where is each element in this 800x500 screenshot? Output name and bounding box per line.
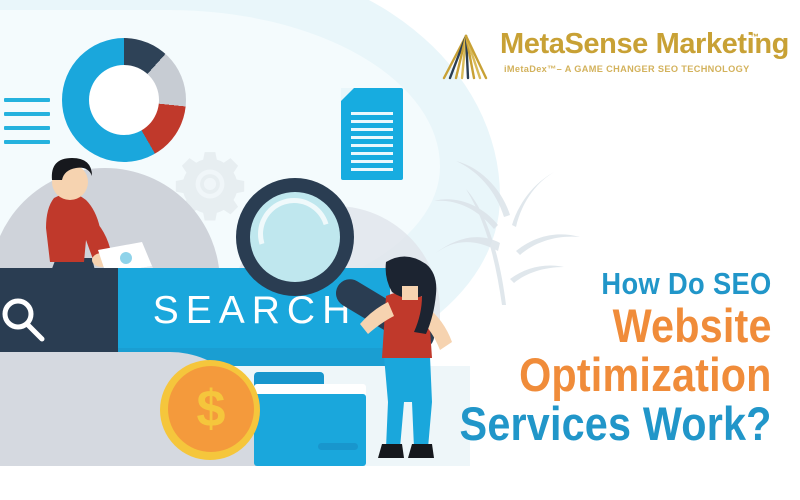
brand-trademark: ™ <box>750 32 759 42</box>
donut-chart <box>62 38 186 162</box>
brand-tagline: iMetaDex™– A GAME CHANGER SEO TECHNOLOGY <box>504 64 750 74</box>
brand-logo[interactable]: MetaSense Marketing ™ iMetaDex™– A GAME … <box>438 28 768 86</box>
line-3 <box>4 126 50 130</box>
headline: How Do SEO Website Optimization Services… <box>417 266 772 449</box>
banner-canvas: SEARCH $ <box>0 0 800 500</box>
bottom-band <box>0 466 800 500</box>
folder-slot <box>318 443 358 450</box>
headline-line-2: Website <box>460 302 772 350</box>
folder-icon <box>254 394 366 466</box>
brand-name: MetaSense Marketing <box>500 28 789 61</box>
headline-line-1: How Do SEO <box>460 266 772 302</box>
line-1 <box>4 98 50 102</box>
coin-symbol: $ <box>168 366 254 452</box>
headline-line-4: Services Work? <box>460 399 772 449</box>
text-lines-decoration <box>4 98 50 154</box>
headline-line-3: Optimization <box>460 350 772 399</box>
line-2 <box>4 112 50 116</box>
magnifier-icon <box>0 292 50 348</box>
metasense-logo-mark-icon <box>438 30 494 80</box>
document-icon <box>341 88 403 180</box>
line-4 <box>4 140 50 144</box>
